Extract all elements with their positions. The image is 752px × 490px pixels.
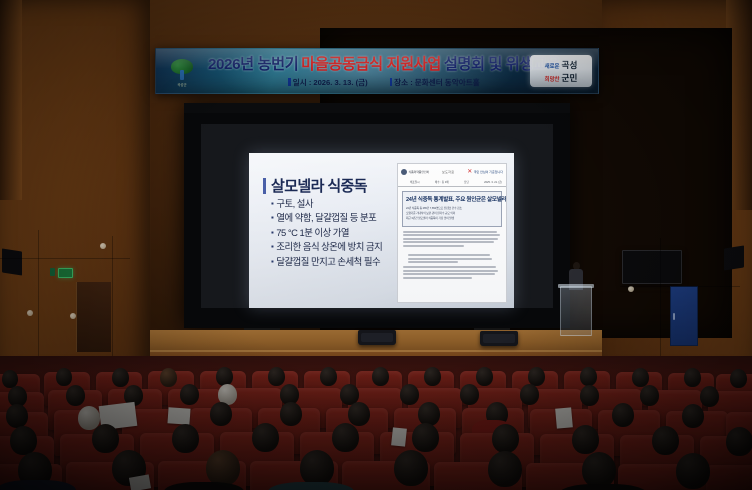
- bar-marker-icon: [288, 78, 291, 86]
- banner-title-part1: 2026년 농번기: [208, 52, 298, 74]
- attendee-head: [700, 386, 719, 407]
- event-banner: 곡성군 2026년 농번기 마을공동급식 지원사업 설명회 및 위생교육 일시 …: [155, 48, 599, 94]
- right-wall-speaker: [724, 245, 744, 270]
- acrylic-podium: [560, 286, 592, 336]
- press-release-body: [398, 227, 506, 247]
- org-mark: ✕ 국민 안심이 기준입니다: [467, 169, 503, 175]
- bullet-text: 75 °C 1분 이상 가열: [276, 227, 349, 238]
- slogan-line2-big: 군민: [562, 72, 578, 84]
- attendee-head: [424, 367, 441, 386]
- attendee-head: [112, 368, 129, 387]
- attendee-head: [348, 402, 370, 426]
- wall-tv-monitor: [622, 250, 682, 284]
- attendee-head: [10, 426, 37, 455]
- press-release-title-box: 24년 식중독 통계발표, 주요 원인균은 살모넬라 24년 식중독 총 265…: [402, 191, 502, 227]
- attendee-head: [418, 402, 440, 426]
- attendee-head: [172, 424, 199, 453]
- sub-bullet: 최근 3년간 살모넬라 식중독이 가장 많이 발생: [406, 216, 498, 220]
- attendee-head: [210, 402, 232, 426]
- header-cell: 매수 : 총 3매: [435, 180, 449, 184]
- bullet-dot-icon: ▪: [271, 256, 273, 267]
- banner-title: 2026년 농번기 마을공동급식 지원사업 설명회 및 위생교육: [208, 53, 560, 73]
- attendee-head: [676, 453, 710, 489]
- slogan-line1-small: 새로운: [545, 62, 560, 70]
- bullet-text: 조리한 음식 상온에 방치 금지: [276, 241, 382, 252]
- screen-top-rail: [184, 103, 570, 113]
- press-release-label: 보도자료: [442, 170, 454, 174]
- county-tree-emblem-icon: 곡성군: [164, 54, 200, 88]
- attendee-head: [612, 403, 634, 427]
- handout-paper: [129, 474, 151, 490]
- attendee-shoulders: [0, 480, 76, 490]
- left-corner-highlight: [0, 0, 22, 200]
- press-release-image: 식품의약품안전처 보도자료 ✕ 국민 안심이 기준입니다 배포일시 매수 : 총…: [397, 163, 507, 303]
- press-release-headline: 24년 식중독 통계발표, 주요 원인균은 살모넬라: [406, 195, 498, 203]
- emblem-caption: 곡성군: [165, 83, 199, 88]
- bullet-dot-icon: ▪: [271, 198, 273, 209]
- bullet-text: 달걀껍질 만지고 손세척 필수: [276, 256, 380, 267]
- attendee-head: [488, 451, 522, 487]
- stage-floor-monitor: [480, 331, 518, 346]
- handout-paper: [555, 407, 573, 428]
- header-cell: 배포일시: [410, 180, 420, 184]
- attendee-head: [684, 368, 701, 387]
- attendee-head: [640, 385, 659, 406]
- slide-title-group: 살모넬라 식중독: [263, 175, 367, 196]
- stage-floor-monitor: [358, 330, 396, 345]
- left-entry-door: [76, 282, 111, 352]
- org-tagline: 국민 안심이 기준입니다: [474, 170, 503, 174]
- banner-date-label: 일시 :: [293, 77, 312, 88]
- side-door: [670, 286, 698, 346]
- handout-paper: [391, 427, 407, 446]
- bullet-text: 구토, 설사: [276, 198, 313, 209]
- attendee-head: [730, 369, 747, 388]
- bullet-dot-icon: ▪: [271, 241, 273, 252]
- attendee-head: [6, 404, 28, 428]
- attendee-head: [160, 368, 177, 387]
- county-slogan-logo: 새로운 곡성 희망찬 군민: [530, 55, 592, 87]
- banner-date: 일시 : 2026. 3. 13. (금): [288, 77, 367, 88]
- attendee-head: [476, 367, 493, 386]
- attendee-head: [520, 384, 539, 405]
- slogan-line1-big: 곡성: [562, 59, 578, 71]
- attendee-head: [280, 402, 302, 426]
- attendee-head: [582, 452, 616, 488]
- banner-place-label: 장소 :: [394, 77, 413, 88]
- attendee-head: [300, 450, 334, 486]
- attendee-head: [652, 426, 679, 455]
- press-release-closing-para: [398, 266, 506, 279]
- handout-paper: [167, 407, 190, 424]
- attendee-head: [66, 385, 85, 406]
- left-wall-speaker: [2, 248, 22, 275]
- banner-place-value: 문화센터 동악아트홀: [415, 77, 480, 88]
- attendee-head: [216, 367, 233, 386]
- door-handle-icon: [673, 313, 675, 320]
- wall-light-fixture-icon: [27, 310, 33, 316]
- auditorium-presentation-photo: 곡성군 2026년 농번기 마을공동급식 지원사업 설명회 및 위생교육 일시 …: [0, 0, 752, 490]
- org-mark-icon: ✕: [467, 169, 472, 175]
- bar-marker-icon: [390, 78, 393, 86]
- attendee-head: [460, 384, 479, 405]
- header-cell: 담당: [464, 180, 469, 184]
- header-cell: 2025. 3. 21.(금): [484, 180, 502, 184]
- title-accent-bar-icon: [263, 178, 266, 194]
- exit-sign-secondary: [50, 268, 55, 276]
- attendee-head: [252, 423, 279, 452]
- agency-name: 식품의약품안전처: [409, 170, 430, 174]
- bullet-dot-icon: ▪: [271, 212, 273, 223]
- attendee-head: [92, 424, 119, 453]
- attendee-head: [682, 404, 704, 428]
- audience-area: [0, 356, 752, 490]
- attendee-head: [580, 385, 599, 406]
- attendee-head: [492, 424, 519, 453]
- sub-bullet: 오염기준 기내식의 보관·관리 환자수 규모 의미: [406, 211, 498, 215]
- attendee-head: [572, 425, 599, 454]
- attendee-head: [332, 423, 359, 452]
- projection-screen: 살모넬라 식중독 ▪ 구토, 설사 ▪ 열에 약함, 달걀껍질 등 분포 ▪ 7…: [184, 103, 570, 328]
- banner-title-part2: 마을공동급식 지원사업: [301, 52, 441, 74]
- attendee-head: [56, 368, 72, 386]
- agency-logo: 식품의약품안전처: [401, 169, 429, 175]
- attendee-head: [394, 450, 428, 486]
- banner-subtitle: 일시 : 2026. 3. 13. (금) 장소 : 문화센터 동악아트홀: [208, 75, 560, 89]
- left-wall: [0, 0, 150, 380]
- attendee-shoulders: [164, 482, 244, 490]
- slogan-line2-small: 희망찬: [545, 75, 560, 83]
- attendee-head: [400, 384, 419, 405]
- press-release-indented-list: [403, 250, 506, 263]
- exit-sign: [58, 268, 73, 278]
- screen-surface: 살모넬라 식중독 ▪ 구토, 설사 ▪ 열에 약함, 달걀껍질 등 분포 ▪ 7…: [201, 124, 553, 308]
- press-release-subbullets: 24년 식중독 총 265건 7,652명으로 전년比 건수 감소 오염기준 기…: [406, 206, 498, 221]
- banner-date-value: 2026. 3. 13. (금): [313, 77, 367, 88]
- attendee-head: [372, 367, 389, 386]
- attendee-head: [320, 367, 337, 386]
- attendee-head: [580, 367, 597, 386]
- bullet-dot-icon: ▪: [271, 227, 273, 238]
- banner-place: 장소 : 문화센터 동악아트홀: [390, 77, 480, 88]
- bullet-text: 열에 약함, 달걀껍질 등 분포: [276, 212, 376, 223]
- attendee-head: [180, 384, 199, 405]
- attendee-head: [726, 427, 752, 456]
- attendee-head: [268, 367, 285, 386]
- sub-bullet: 24년 식중독 총 265건 7,652명으로 전년比 건수 감소: [406, 206, 498, 210]
- press-release-header: 식품의약품안전처 보도자료 ✕ 국민 안심이 기준입니다 배포일시 매수 : 총…: [398, 164, 506, 187]
- attendee-shoulders: [268, 482, 354, 490]
- attendee-head: [632, 368, 649, 387]
- slide-title: 살모넬라 식중독: [271, 175, 367, 196]
- projected-slide: 살모넬라 식중독 ▪ 구토, 설사 ▪ 열에 약함, 달걀껍질 등 분포 ▪ 7…: [249, 153, 514, 308]
- attendee-head: [412, 423, 439, 452]
- wall-light-fixture-icon: [100, 243, 106, 249]
- attendee-head: [206, 450, 240, 486]
- agency-seal-icon: [401, 169, 407, 175]
